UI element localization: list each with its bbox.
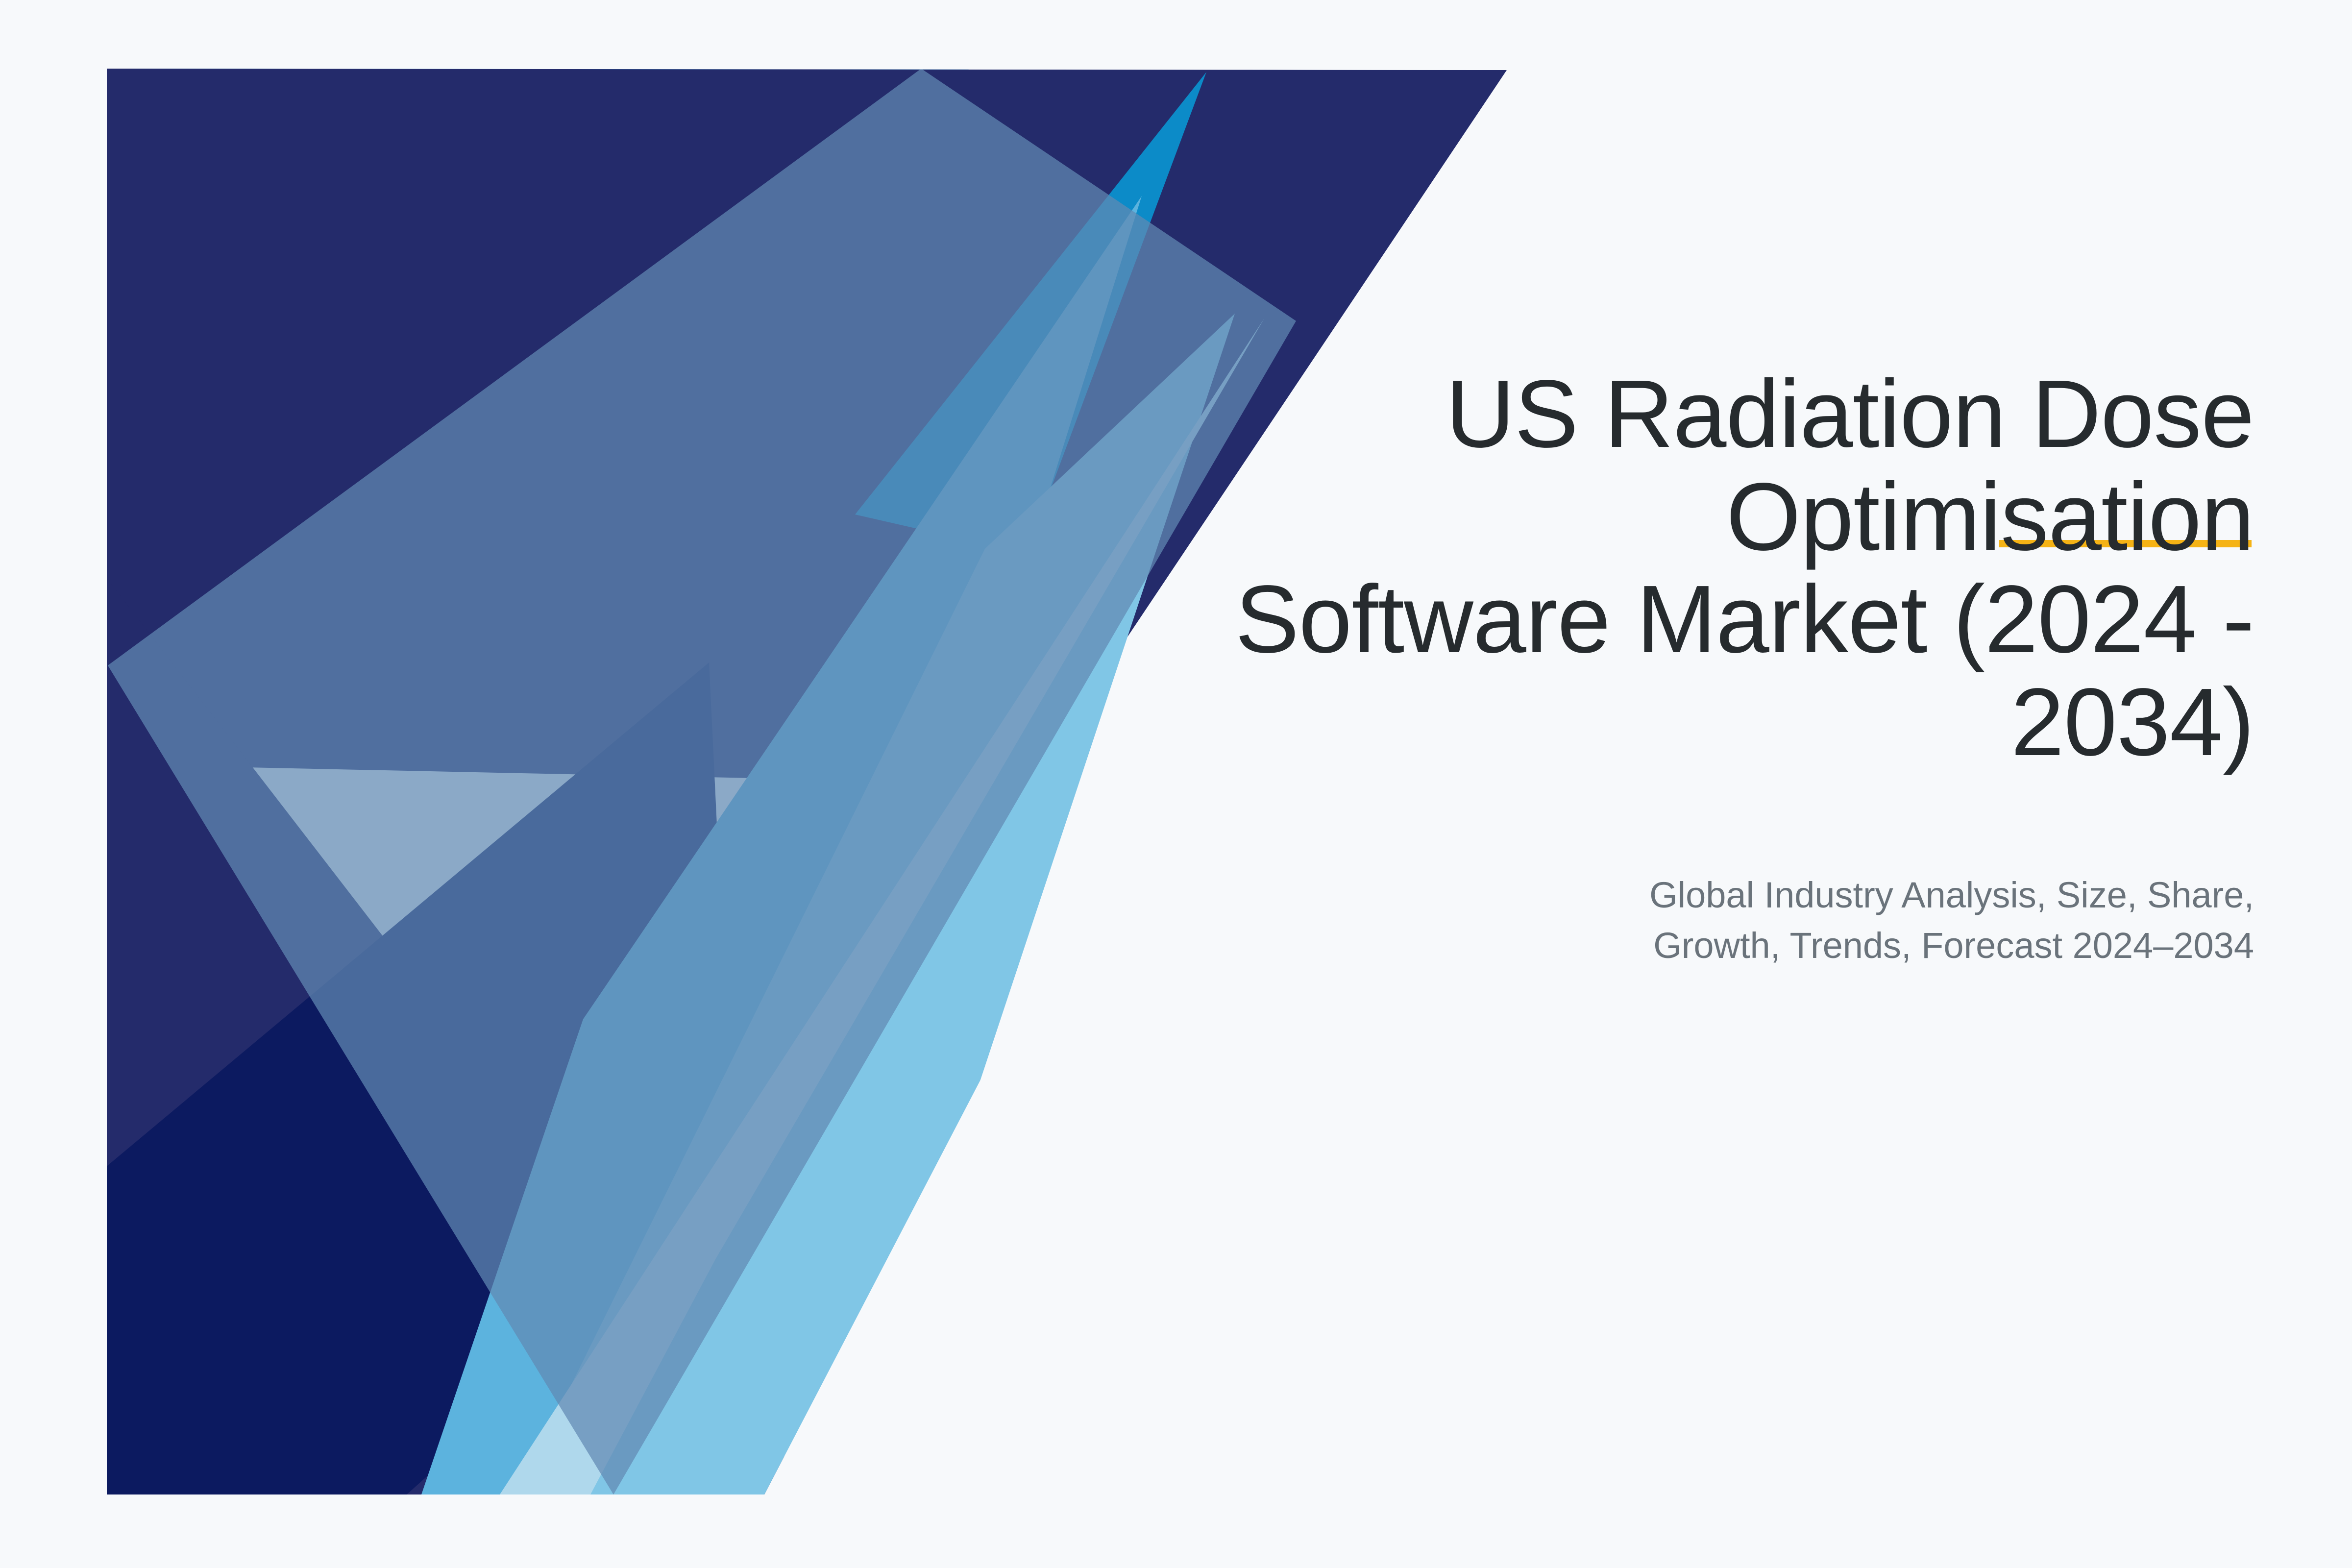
page-title: US Radiation Dose Optimisation Software … bbox=[1029, 363, 2254, 774]
cover-text-block: US Radiation Dose Optimisation Software … bbox=[1029, 363, 2254, 971]
report-cover: US Radiation Dose Optimisation Software … bbox=[0, 0, 2352, 1568]
page-subtitle: Global Industry Analysis, Size, Share, G… bbox=[1029, 870, 2254, 971]
